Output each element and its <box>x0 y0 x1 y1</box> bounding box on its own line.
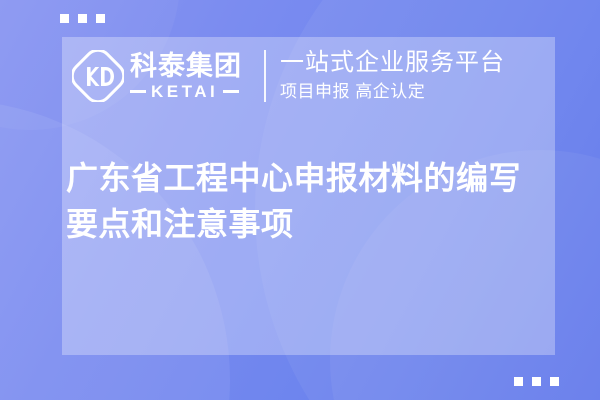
decorative-square <box>78 14 87 23</box>
brand-lockup: 科泰集团 KETAI <box>72 50 242 102</box>
tagline-main: 一站式企业服务平台 <box>280 49 505 77</box>
brand-name-en: KETAI <box>151 83 218 100</box>
kd-monogram-icon <box>72 50 124 102</box>
decorative-square <box>96 14 105 23</box>
tagline-block: 一站式企业服务平台 项目申报 高企认定 <box>280 49 505 102</box>
brand-rule-right-icon <box>223 90 239 93</box>
decorative-square <box>514 377 523 386</box>
decorative-square <box>550 377 559 386</box>
header-divider <box>264 50 266 102</box>
tagline-sub: 项目申报 高企认定 <box>280 81 505 103</box>
page-title: 广东省工程中心申报材料的编写要点和注意事项 <box>66 155 552 248</box>
brand-name-en-row: KETAI <box>130 83 242 100</box>
decorative-dots-top-left <box>60 14 105 23</box>
brand-text: 科泰集团 KETAI <box>130 52 242 99</box>
decorative-square <box>60 14 69 23</box>
decorative-square <box>532 377 541 386</box>
content-panel: 科泰集团 KETAI 一站式企业服务平台 项目申报 高企认定 广东省工程中心申报… <box>62 37 555 355</box>
brand-rule-left-icon <box>130 90 146 93</box>
brand-name-cn: 科泰集团 <box>130 52 242 80</box>
promo-banner: 科泰集团 KETAI 一站式企业服务平台 项目申报 高企认定 广东省工程中心申报… <box>0 0 600 400</box>
decorative-dots-bottom-right <box>514 377 559 386</box>
banner-header: 科泰集团 KETAI 一站式企业服务平台 项目申报 高企认定 <box>62 37 555 115</box>
